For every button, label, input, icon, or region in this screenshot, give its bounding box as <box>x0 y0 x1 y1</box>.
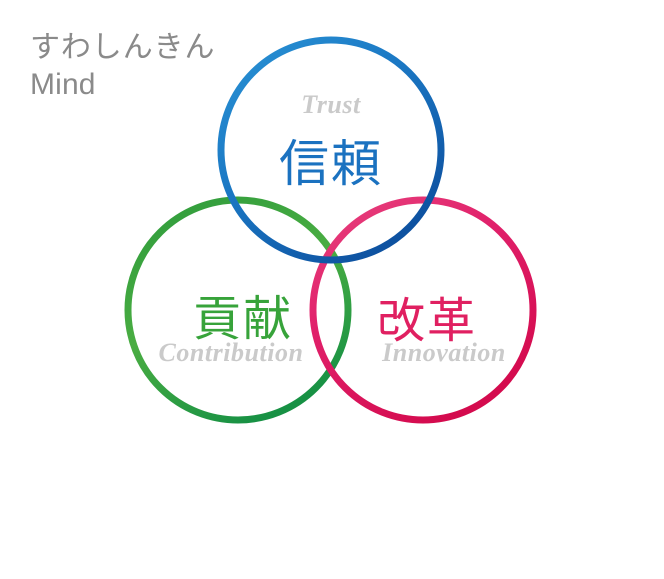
heading-line-japanese: すわしんきん <box>30 30 290 65</box>
label-trust-japanese: 信頼 <box>261 124 401 196</box>
label-innovation-english: Innovation <box>354 338 534 368</box>
label-trust-english: Trust <box>271 90 391 120</box>
heading-block: すわしんきん Mind <box>30 30 290 103</box>
diagram-canvas: すわしんきん Mind Trust <box>0 0 664 579</box>
label-contribution-english: Contribution <box>131 338 331 368</box>
